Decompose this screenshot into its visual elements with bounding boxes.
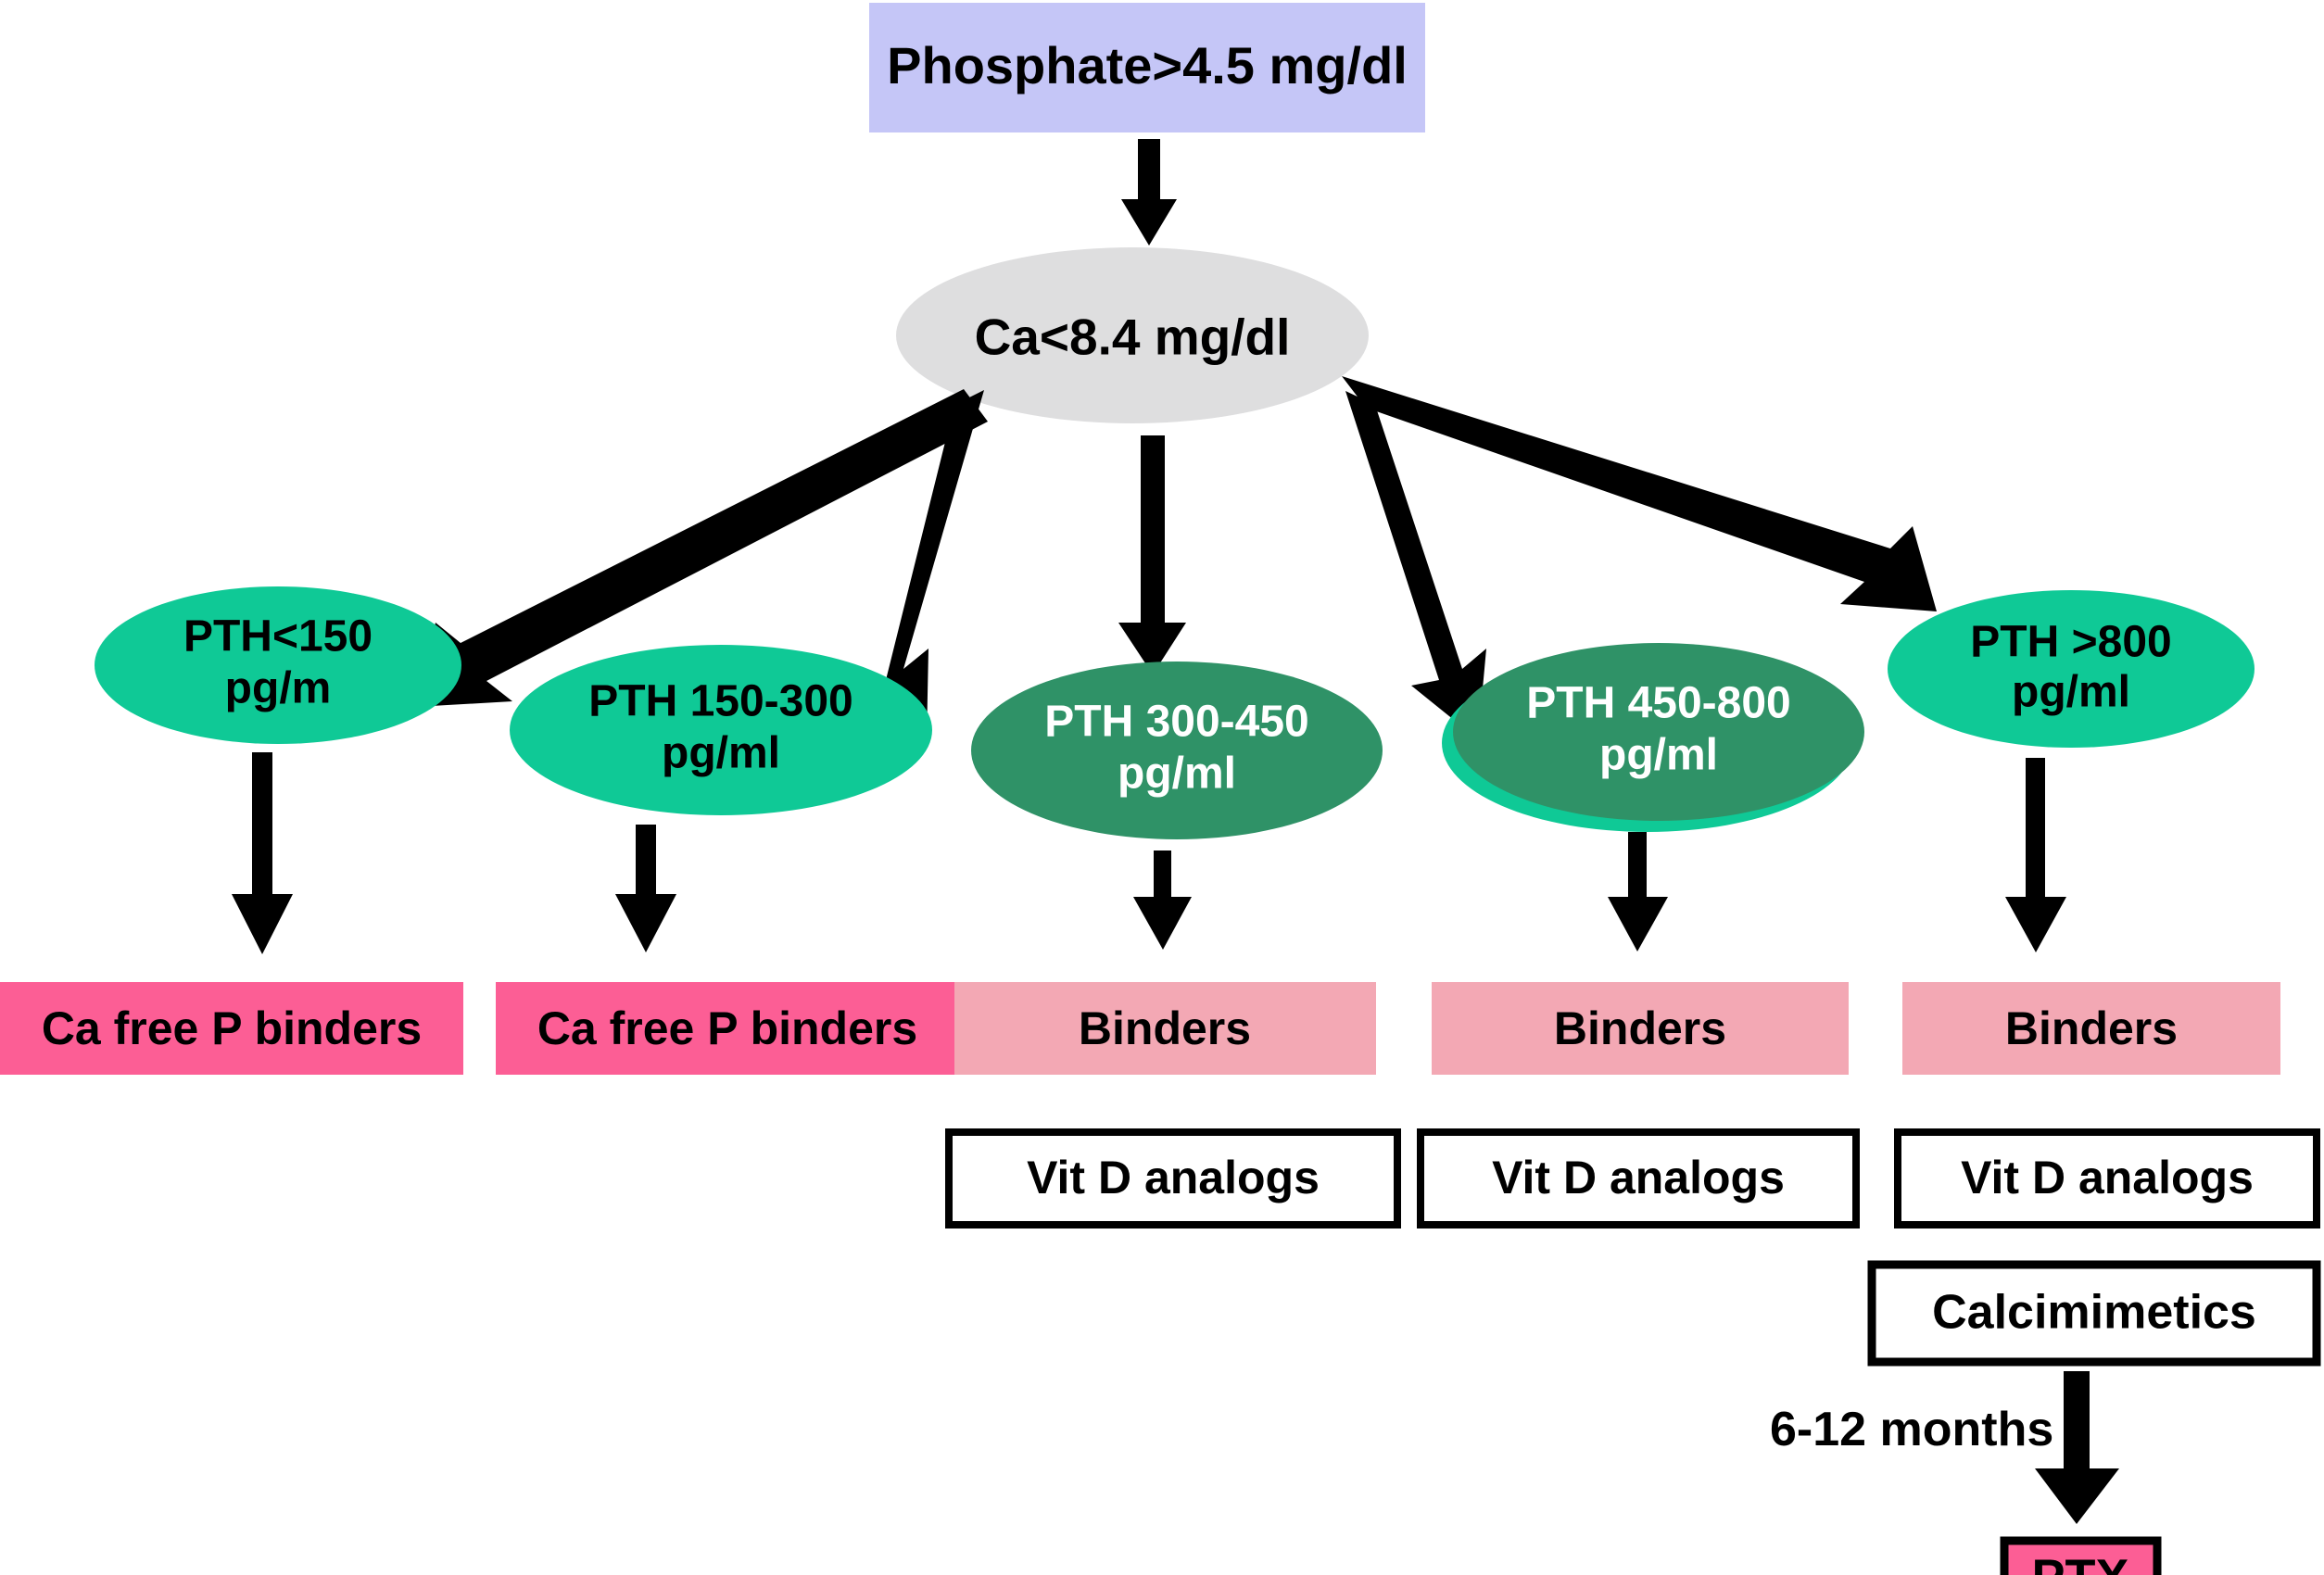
- calcium-ellipse-label: Ca<8.4 mg/dl: [975, 309, 1291, 366]
- arrow-down-center-icon: [1118, 435, 1186, 674]
- treatment-label: Ca free P binders: [42, 1002, 422, 1054]
- outcome-ptx[interactable]: PTX: [2004, 1541, 2157, 1575]
- arrow-branch-4: [1345, 391, 1486, 739]
- pth-300-450-label-line1: PTH 300-450: [1044, 698, 1309, 747]
- pth-150-300-label-line1: PTH 150-300: [588, 677, 853, 726]
- arrow-down-icon: [1121, 139, 1177, 246]
- treatment-binders-1[interactable]: Binders: [954, 982, 1376, 1075]
- arrow-down-icon: [1608, 832, 1668, 951]
- node-pth-150-300[interactable]: PTH 150-300 pg/ml: [510, 645, 932, 815]
- arrow-pth-150-300-to-treatment: [615, 825, 676, 952]
- treatment-binders-3[interactable]: Binders: [1902, 982, 2280, 1075]
- treatment-label: Vit D analogs: [1027, 1152, 1320, 1203]
- treatment-label: Binders: [1554, 1002, 1726, 1054]
- arrow-down-icon: [615, 825, 676, 952]
- node-pth-300-450[interactable]: PTH 300-450 pg/ml: [971, 661, 1383, 839]
- pth-lt-150-label-line1: PTH<150: [183, 612, 373, 661]
- flowchart-svg: Phosphate>4.5 mg/dl Ca<8.4 mg/dl: [0, 0, 2324, 1575]
- pth-450-800-label-line2: pg/ml: [1599, 731, 1718, 780]
- node-pth-450-800[interactable]: PTH 450-800 pg/ml: [1442, 643, 1864, 832]
- treatment-vitd-3[interactable]: Vit D analogs: [1898, 1132, 2317, 1225]
- arrow-branch-3: [1118, 435, 1186, 674]
- arrow-pth-gt-800-to-treatment: [2005, 758, 2066, 952]
- pth-300-450-label-line2: pg/ml: [1118, 750, 1236, 799]
- treatment-vitd-2[interactable]: Vit D analogs: [1421, 1132, 1856, 1225]
- arrow-down-icon: [1133, 850, 1192, 950]
- treatment-vitd-1[interactable]: Vit D analogs: [949, 1132, 1397, 1225]
- treatment-label: Ca free P binders: [537, 1002, 917, 1054]
- arrow-down-icon: [2005, 758, 2066, 952]
- pth-lt-150-label-line2: pg/m: [225, 664, 332, 713]
- treatment-calcimimetics[interactable]: Calcimimetics: [1872, 1265, 2317, 1362]
- pth-gt-800-label-line1: PTH >800: [1970, 618, 2171, 667]
- node-pth-lt-150[interactable]: PTH<150 pg/m: [95, 586, 461, 744]
- arrow-root-to-decision: [1121, 139, 1177, 246]
- treatment-binders-2[interactable]: Binders: [1432, 982, 1849, 1075]
- duration-label: 6-12 months: [1770, 1403, 2053, 1456]
- arrow-diagonal-right-steep-icon: [1345, 391, 1486, 739]
- node-phosphate-threshold[interactable]: Phosphate>4.5 mg/dl: [869, 3, 1425, 132]
- duration-annotation: 6-12 months: [1770, 1403, 2053, 1456]
- pth-150-300-label-line2: pg/ml: [662, 729, 780, 778]
- arrow-pth-lt-150-to-treatment: [232, 752, 293, 954]
- pth-gt-800-label-line2: pg/ml: [2012, 668, 2130, 717]
- treatment-ca-free-binders-1[interactable]: Ca free P binders: [0, 982, 463, 1075]
- treatment-label: Binders: [1079, 1002, 1251, 1054]
- arrow-pth-450-800-to-treatment: [1608, 832, 1668, 951]
- outcome-label: PTX: [2031, 1549, 2128, 1575]
- treatment-label: Vit D analogs: [1961, 1152, 2254, 1203]
- treatment-label: Calcimimetics: [1932, 1286, 2256, 1340]
- arrow-down-icon: [232, 752, 293, 954]
- treatment-label: Vit D analogs: [1492, 1152, 1785, 1203]
- treatment-label: Binders: [2005, 1002, 2178, 1054]
- phosphate-box-label: Phosphate>4.5 mg/dl: [887, 36, 1408, 94]
- flowchart-canvas: Phosphate>4.5 mg/dl Ca<8.4 mg/dl: [0, 0, 2324, 1575]
- node-pth-gt-800[interactable]: PTH >800 pg/ml: [1888, 590, 2255, 748]
- arrow-pth-300-450-to-treatment: [1133, 850, 1192, 950]
- treatment-ca-free-binders-2[interactable]: Ca free P binders: [496, 982, 959, 1075]
- pth-450-800-label-line1: PTH 450-800: [1526, 679, 1791, 728]
